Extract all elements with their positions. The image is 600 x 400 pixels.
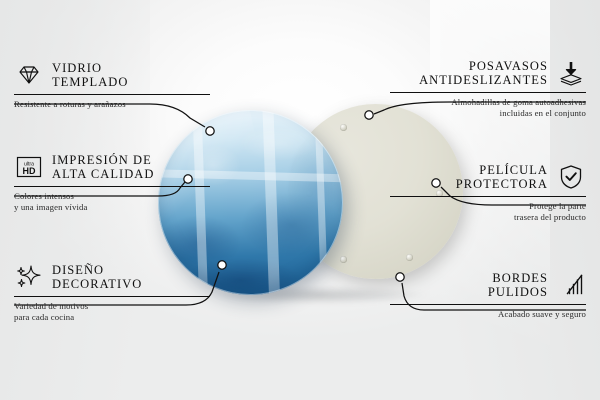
feature-header: POSAVASOS ANTIDESLIZANTES <box>390 58 586 88</box>
feature-impresion-alta-calidad: ultra HD IMPRESIÓN DE ALTA CALIDAD Color… <box>14 152 210 214</box>
feature-title: POSAVASOS ANTIDESLIZANTES <box>419 59 548 88</box>
feature-description: Colores intensos y una imagen vívida <box>14 191 210 214</box>
feature-diseno-decorativo: DISEÑO DECORATIVO Variedad de motivos pa… <box>14 262 210 324</box>
feature-header: ultra HD IMPRESIÓN DE ALTA CALIDAD <box>14 152 210 182</box>
rubber-pad <box>340 256 347 263</box>
feature-header: BORDES PULIDOS <box>390 270 586 300</box>
sparkle-icon <box>14 262 44 292</box>
diamond-icon <box>14 60 44 90</box>
feature-header: PELÍCULA PROTECTORA <box>390 162 586 192</box>
feature-title: IMPRESIÓN DE ALTA CALIDAD <box>52 153 154 182</box>
feature-description: Almohadillas de goma autoadhesivas inclu… <box>390 97 586 120</box>
feature-description: Resistente a roturas y arañazos <box>14 99 210 110</box>
feature-header: DISEÑO DECORATIVO <box>14 262 210 292</box>
feature-title: PELÍCULA PROTECTORA <box>456 163 548 192</box>
feature-divider <box>390 304 586 305</box>
feature-title: BORDES PULIDOS <box>488 271 548 300</box>
rubber-pad <box>406 254 413 261</box>
rubber-pad <box>340 124 347 131</box>
feature-divider <box>14 94 210 95</box>
feature-header: VIDRIO TEMPLADO <box>14 60 210 90</box>
infographic-canvas: VIDRIO TEMPLADO Resistente a roturas y a… <box>0 0 600 400</box>
polished-edges-icon <box>556 270 586 300</box>
feature-description: Protege la parte trasera del producto <box>390 201 586 224</box>
pad-down-arrow-icon <box>556 58 586 88</box>
feature-pelicula-protectora: PELÍCULA PROTECTORA Protege la parte tra… <box>390 162 586 224</box>
feature-description: Variedad de motivos para cada cocina <box>14 301 210 324</box>
svg-text:HD: HD <box>23 166 36 176</box>
shield-check-icon <box>556 162 586 192</box>
feature-divider <box>390 92 586 93</box>
feature-divider <box>14 186 210 187</box>
ultra-hd-icon: ultra HD <box>14 152 44 182</box>
feature-divider <box>390 196 586 197</box>
feature-divider <box>14 296 210 297</box>
feature-vidrio-templado: VIDRIO TEMPLADO Resistente a roturas y a… <box>14 60 210 110</box>
feature-posavasos-antideslizantes: POSAVASOS ANTIDESLIZANTES Almohadillas d… <box>390 58 586 120</box>
feature-title: VIDRIO TEMPLADO <box>52 61 128 90</box>
feature-description: Acabado suave y seguro <box>390 309 586 320</box>
feature-title: DISEÑO DECORATIVO <box>52 263 142 292</box>
feature-bordes-pulidos: BORDES PULIDOS Acabado suave y seguro <box>390 270 586 320</box>
